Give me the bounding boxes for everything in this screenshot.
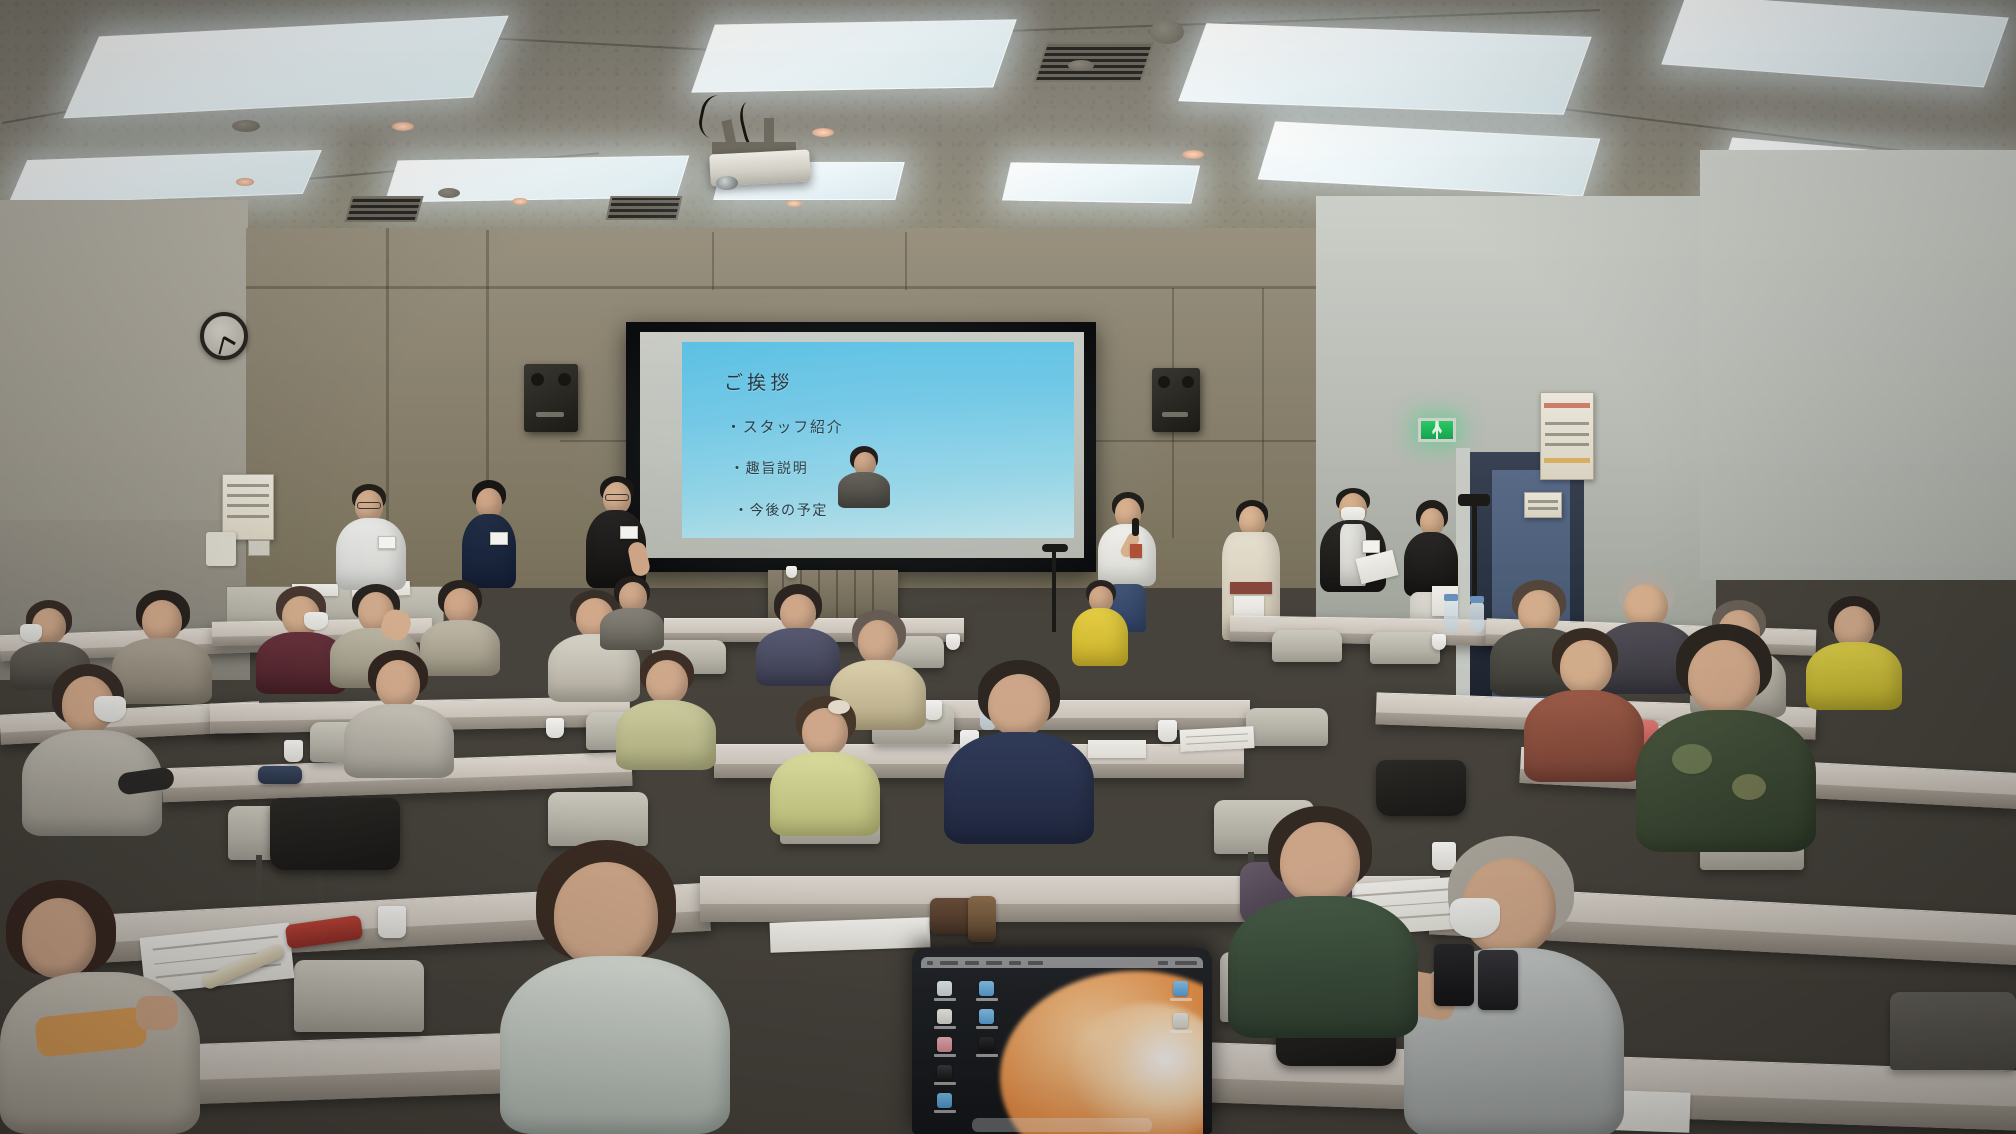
- torso-yellow: [1072, 608, 1128, 666]
- hair-clip: [828, 700, 850, 714]
- speaker-driver: [531, 373, 544, 386]
- poster-band: [1544, 403, 1590, 408]
- desktop-icon[interactable]: [937, 1037, 952, 1052]
- torso: [500, 956, 730, 1134]
- eyeglasses: [357, 502, 381, 509]
- audience-member: [1806, 596, 1902, 708]
- head: [376, 660, 420, 708]
- poster-text-line: [1545, 433, 1589, 436]
- equipment-head: [1458, 494, 1490, 506]
- bottle-cap: [1470, 596, 1484, 603]
- ceiling-light-panel: [1002, 162, 1200, 203]
- staff-person-white-shirt: [334, 484, 408, 594]
- head: [988, 674, 1050, 736]
- ceiling-light-panel: [691, 19, 1016, 92]
- menubar-clock[interactable]: [1175, 961, 1197, 965]
- audience-member: [1636, 624, 1816, 848]
- apple-menu-icon[interactable]: [927, 961, 933, 965]
- wall-notice-left: [222, 474, 274, 540]
- speaker-port: [536, 412, 564, 417]
- ceiling-dome-camera: [1150, 20, 1184, 44]
- menu-item[interactable]: [940, 961, 958, 965]
- kimono-pattern: [1732, 774, 1766, 800]
- wall-switch-panel[interactable]: [248, 540, 270, 556]
- desktop-icon-label: [1170, 1030, 1192, 1033]
- audience-member: [0, 880, 200, 1134]
- head: [444, 588, 478, 624]
- audience-member: [22, 664, 162, 834]
- smoke-detector: [1068, 60, 1094, 71]
- projector-lens: [716, 176, 738, 190]
- poster-text-line: [1545, 443, 1589, 446]
- smartphone[interactable]: [1434, 944, 1474, 1006]
- speaker-port: [1162, 412, 1188, 417]
- head: [22, 898, 96, 978]
- wall-panel-seam: [386, 228, 389, 528]
- desktop-icon[interactable]: [937, 1009, 952, 1024]
- torso: [838, 472, 890, 508]
- staff-person-yellow-shirt: [1070, 580, 1130, 666]
- desktop-icon-label: [976, 998, 998, 1001]
- slide-bullet-1: ・スタッフ紹介: [726, 416, 844, 437]
- speaker-driver: [1182, 376, 1194, 388]
- desktop-icon[interactable]: [979, 1009, 994, 1024]
- wall-panel-seam: [905, 232, 907, 290]
- head: [1688, 640, 1760, 714]
- wall-panel-seam: [246, 286, 1318, 289]
- head: [646, 660, 688, 704]
- desktop-icon[interactable]: [1173, 981, 1188, 996]
- clock-minute-hand: [218, 337, 225, 355]
- torso: [770, 752, 880, 836]
- face-mask: [1450, 898, 1500, 938]
- handout-paper[interactable]: [770, 917, 931, 953]
- menu-item[interactable]: [1009, 961, 1021, 965]
- smoke-detector: [232, 120, 260, 132]
- torso: [944, 732, 1094, 844]
- desktop-icon-label: [1170, 998, 1192, 1001]
- audience-member: [600, 576, 664, 646]
- desktop-icon-label: [934, 1082, 956, 1085]
- seminar-room-photo: ご挨拶 ・スタッフ紹介 ・趣旨説明 ・今後の予定: [0, 0, 2016, 1134]
- wall-panel-seam: [712, 232, 714, 290]
- eyeglasses: [605, 494, 629, 501]
- smartphone[interactable]: [1478, 950, 1518, 1010]
- desktop-icon-label: [934, 1110, 956, 1113]
- head: [1280, 822, 1360, 904]
- head: [802, 708, 848, 756]
- equipment-pole: [1472, 500, 1477, 596]
- paper-cup[interactable]: [946, 634, 960, 650]
- notice-text-line: [227, 515, 269, 518]
- desktop-icon-label: [934, 1054, 956, 1057]
- audience-member: [1524, 628, 1644, 776]
- chair[interactable]: [1370, 632, 1440, 664]
- audience-member: [344, 650, 454, 772]
- paper-cup[interactable]: [546, 718, 564, 738]
- macos-menu-bar[interactable]: [921, 957, 1203, 968]
- notice-text-line: [227, 494, 269, 497]
- poster-band: [1544, 458, 1590, 463]
- presentation-slide: ご挨拶 ・スタッフ紹介 ・趣旨説明 ・今後の予定: [682, 342, 1074, 538]
- face-mask: [20, 624, 42, 642]
- head: [554, 862, 658, 968]
- poster-text-line: [1528, 500, 1558, 503]
- torso: [756, 628, 840, 686]
- chair[interactable]: [548, 792, 648, 846]
- thermos[interactable]: [968, 896, 996, 942]
- handout-paper[interactable]: [1088, 740, 1146, 758]
- paper-cup[interactable]: [378, 906, 406, 938]
- hand: [136, 996, 178, 1030]
- water-bottle[interactable]: [1444, 600, 1458, 632]
- macbook-laptop[interactable]: [912, 948, 1212, 1134]
- kimono-pattern: [1672, 744, 1712, 774]
- bottle-cap: [1444, 594, 1458, 601]
- desktop-icon[interactable]: [979, 981, 994, 996]
- paper-cup[interactable]: [786, 566, 797, 578]
- chair[interactable]: [1246, 708, 1328, 746]
- speaker-driver: [558, 373, 571, 386]
- name-badge: [620, 526, 638, 539]
- torso: [336, 518, 406, 590]
- head: [858, 620, 898, 664]
- poster-text-line: [1528, 507, 1558, 510]
- desktop-icon-label: [934, 998, 956, 1001]
- torso: [1228, 896, 1418, 1038]
- chair[interactable]: [294, 960, 424, 1032]
- ceiling-downlight: [812, 128, 834, 137]
- head: [780, 594, 816, 632]
- wall-phone[interactable]: [206, 532, 236, 566]
- head: [142, 600, 182, 642]
- water-bottle[interactable]: [1470, 602, 1484, 632]
- audience-member: [838, 446, 890, 504]
- audience-member: [616, 650, 716, 764]
- head: [1560, 640, 1612, 694]
- notice-text-line: [227, 504, 269, 507]
- staff-masked-man: [1318, 488, 1388, 634]
- wall-speaker-left: [524, 364, 578, 432]
- desktop-icon-label: [976, 1054, 998, 1057]
- desktop-icon[interactable]: [937, 981, 952, 996]
- wall-speaker-right: [1152, 368, 1200, 432]
- notice-text-line: [227, 484, 269, 487]
- menu-item[interactable]: [965, 961, 979, 965]
- ceiling-light-panel: [1178, 23, 1591, 115]
- speaker-driver: [1158, 376, 1170, 388]
- wall-poster-small: [1524, 492, 1562, 518]
- chair[interactable]: [1272, 630, 1342, 662]
- shirt-logo: [1130, 544, 1142, 558]
- audience-member: [756, 584, 840, 680]
- audience-member: [770, 696, 880, 832]
- wall-right-far: [1700, 150, 2016, 580]
- wall-left: [0, 200, 248, 560]
- name-badge: [378, 536, 396, 549]
- torso: [616, 700, 716, 770]
- desktop-icon-label: [976, 1026, 998, 1029]
- paper-cup[interactable]: [1158, 720, 1177, 742]
- clock-hour-hand: [223, 336, 236, 345]
- audience-member: [944, 660, 1094, 840]
- torso: [1806, 642, 1902, 710]
- desktop-icon[interactable]: [1173, 1013, 1188, 1028]
- face-mask: [304, 612, 328, 630]
- slide-bullet-2: ・趣旨説明: [730, 458, 808, 478]
- wall-clock: [200, 312, 248, 360]
- laptop-screen[interactable]: [921, 957, 1203, 1134]
- exit-running-man-icon: [1432, 421, 1442, 439]
- face-mask: [94, 696, 126, 722]
- name-badge: [490, 532, 508, 545]
- name-badge: [1362, 540, 1380, 553]
- desktop-icon-label: [934, 1026, 956, 1029]
- paper-line: [1186, 740, 1248, 745]
- macos-dock[interactable]: [972, 1118, 1153, 1132]
- ceiling-air-vent: [605, 196, 682, 220]
- audience-member: [1228, 806, 1418, 1026]
- ceiling-downlight: [1182, 150, 1204, 159]
- audience-member: [500, 840, 730, 1134]
- paper-cup[interactable]: [924, 700, 942, 720]
- desktop-icon[interactable]: [937, 1093, 952, 1108]
- handbag[interactable]: [270, 798, 400, 870]
- menu-item[interactable]: [986, 961, 1002, 965]
- menu-item[interactable]: [1028, 961, 1043, 965]
- slide-bullet-3: ・今後の予定: [734, 500, 828, 520]
- torso: [462, 514, 516, 588]
- ceiling-air-vent: [1034, 42, 1155, 82]
- ceiling-air-vent: [344, 196, 423, 222]
- kimono-obi: [1230, 582, 1272, 594]
- emergency-exit-sign: [1418, 418, 1456, 442]
- desktop-icon[interactable]: [937, 1065, 952, 1080]
- ceiling-downlight: [392, 122, 414, 131]
- desktop-icon[interactable]: [979, 1037, 994, 1052]
- paper-cup[interactable]: [1432, 634, 1446, 650]
- paper-cup[interactable]: [284, 740, 303, 762]
- ceiling-downlight: [512, 198, 528, 205]
- torso: [1524, 690, 1644, 782]
- wall-poster: [1540, 392, 1594, 480]
- pencil-pouch[interactable]: [258, 766, 302, 784]
- torso: [600, 608, 664, 650]
- handheld-microphone[interactable]: [1132, 518, 1139, 536]
- microphone-head[interactable]: [1042, 544, 1068, 552]
- ceiling-downlight: [786, 200, 802, 207]
- ceiling-downlight: [236, 178, 254, 186]
- staff-person-navy-polo: [458, 480, 520, 592]
- torso-kimono: [1636, 710, 1816, 852]
- handout-paper[interactable]: [1179, 726, 1254, 752]
- paper-line: [1186, 733, 1248, 738]
- smoke-detector: [438, 188, 460, 198]
- poster-text-line: [1545, 422, 1589, 425]
- slide-title: ご挨拶: [724, 368, 794, 395]
- chair-leg: [256, 855, 262, 901]
- torso: [344, 704, 454, 778]
- menubar-status-icon[interactable]: [1158, 961, 1168, 965]
- microphone-stand[interactable]: [1052, 548, 1056, 632]
- projector-mount-arm: [764, 118, 774, 146]
- chair[interactable]: [1890, 992, 2016, 1070]
